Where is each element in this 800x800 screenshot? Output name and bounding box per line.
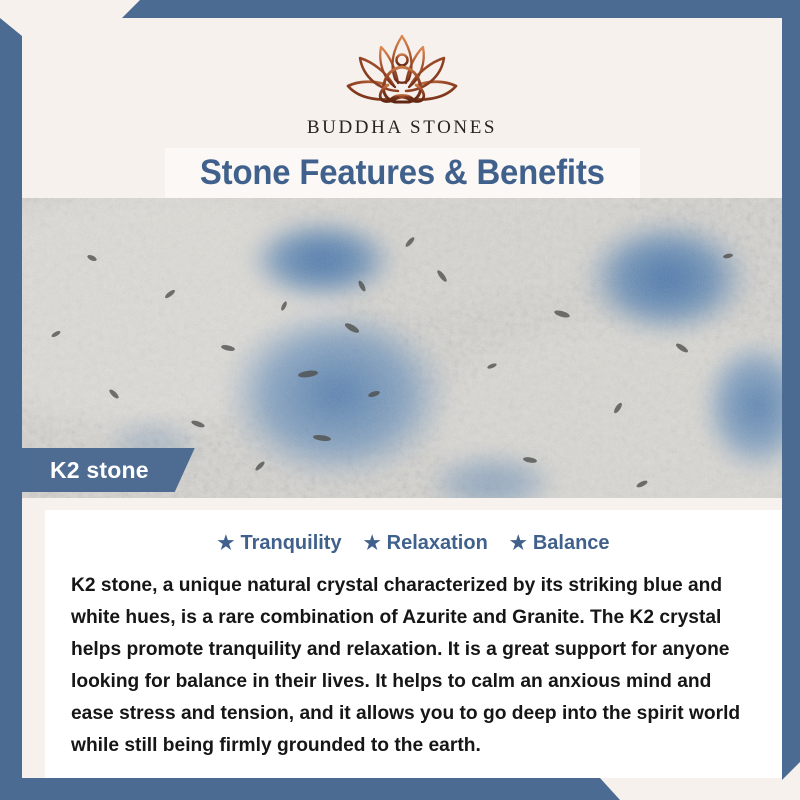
content-card: ★ Tranquility ★ Relaxation ★ Balance K2 … bbox=[45, 498, 782, 778]
poster-root: BUDDHA STONES Stone Features & Benefits bbox=[0, 0, 800, 800]
stone-caption-label: K2 stone bbox=[50, 457, 149, 484]
benefit-keywords: ★ Tranquility ★ Relaxation ★ Balance bbox=[71, 532, 756, 555]
star-icon: ★ bbox=[364, 534, 381, 553]
frame-left-bar bbox=[0, 18, 22, 800]
keyword-relaxation: ★ Relaxation bbox=[364, 532, 488, 555]
keyword-balance: ★ Balance bbox=[510, 532, 610, 555]
frame-top-bar bbox=[0, 0, 800, 18]
stone-caption-tag: K2 stone bbox=[22, 448, 195, 492]
keyword-tranquility: ★ Tranquility bbox=[217, 532, 341, 555]
keyword-label: Tranquility bbox=[240, 532, 341, 555]
title-plate: Stone Features & Benefits bbox=[165, 148, 640, 198]
star-icon: ★ bbox=[510, 534, 527, 553]
stone-description: K2 stone, a unique natural crystal chara… bbox=[71, 569, 746, 761]
star-icon: ★ bbox=[217, 534, 234, 553]
frame-bottom-bar bbox=[0, 778, 800, 800]
keyword-label: Relaxation bbox=[387, 532, 488, 555]
frame-right-bar bbox=[782, 0, 800, 800]
lotus-meditation-figure-icon bbox=[336, 27, 468, 115]
brand-header: BUDDHA STONES bbox=[22, 18, 782, 148]
brand-name: BUDDHA STONES bbox=[307, 117, 497, 139]
keyword-label: Balance bbox=[533, 532, 610, 555]
page-title: Stone Features & Benefits bbox=[200, 153, 605, 193]
card-top-tint bbox=[45, 498, 782, 510]
